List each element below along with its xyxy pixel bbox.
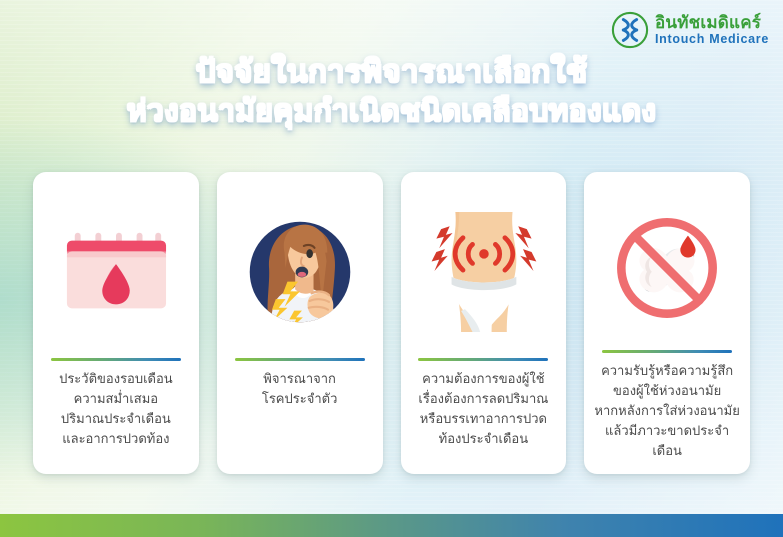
menstrual-calendar-blood-drop-icon — [42, 188, 190, 356]
woman-chest-pain-illness-icon — [226, 188, 374, 356]
card-divider — [602, 350, 732, 353]
page-title-line-1: ปัจจัยในการพิจารณาเลือกใช้ — [0, 52, 783, 92]
factor-card-text: ความต้องการของผู้ใช้ เรื่องต้องการลดปริม… — [418, 370, 548, 450]
brand-name-english: Intouch Medicare — [655, 33, 769, 46]
factor-card-list: ประวัติของรอบเดือน ความสม่ำเสมอ ปริมาณปร… — [33, 172, 750, 474]
card-divider — [418, 358, 548, 361]
factor-card: ประวัติของรอบเดือน ความสม่ำเสมอ ปริมาณปร… — [33, 172, 199, 474]
factor-card: ความรับรู้หรือความรู้สึก ของผู้ใช้ห่วงอน… — [584, 172, 750, 474]
footer-gradient-bar — [0, 514, 783, 537]
card-divider — [235, 358, 365, 361]
factor-card-text: พิจารณาจาก โรคประจำตัว — [262, 370, 338, 410]
page-title-line-2: ห่วงอนามัยคุมกำเนิดชนิดเคลือบทองแดง — [0, 92, 783, 132]
card-divider — [51, 358, 181, 361]
infographic-poster: อินทัชเมดิแคร์ Intouch Medicare ปัจจัยใน… — [0, 0, 783, 537]
factor-card: ความต้องการของผู้ใช้ เรื่องต้องการลดปริม… — [401, 172, 567, 474]
abdominal-cramp-pain-icon — [410, 188, 558, 356]
factor-card: พิจารณาจาก โรคประจำตัว — [217, 172, 383, 474]
intouch-medicare-logo-icon — [611, 11, 649, 49]
brand-name-thai: อินทัชเมดิแคร์ — [655, 15, 769, 32]
no-sanitary-pad-amenorrhea-icon — [593, 188, 741, 348]
brand-name-block: อินทัชเมดิแคร์ Intouch Medicare — [655, 15, 769, 46]
brand-logo: อินทัชเมดิแคร์ Intouch Medicare — [611, 11, 769, 49]
factor-card-text: ประวัติของรอบเดือน ความสม่ำเสมอ ปริมาณปร… — [59, 370, 173, 450]
factor-card-text: ความรับรู้หรือความรู้สึก ของผู้ใช้ห่วงอน… — [593, 362, 741, 462]
page-title: ปัจจัยในการพิจารณาเลือกใช้ ห่วงอนามัยคุม… — [0, 52, 783, 132]
